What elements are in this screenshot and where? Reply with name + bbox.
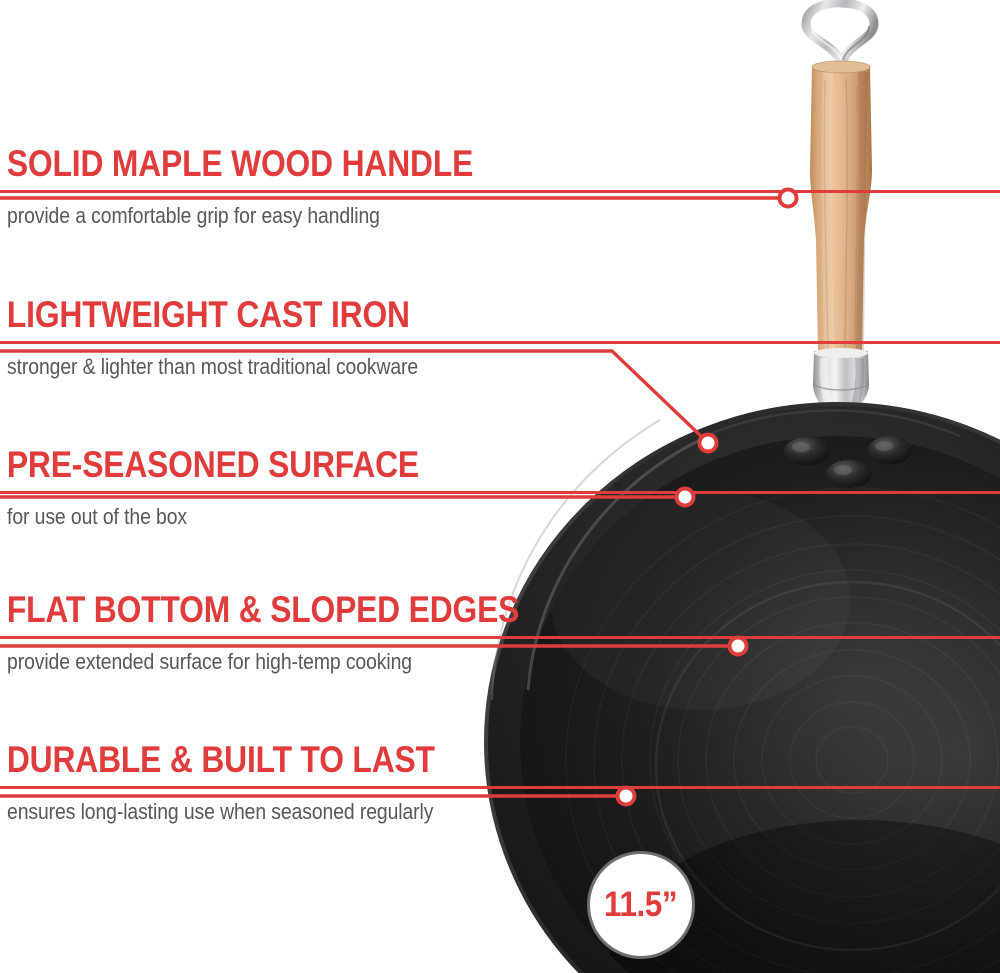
callout-dot-2 — [700, 435, 717, 452]
size-badge: 11.5” — [587, 851, 695, 959]
size-badge-label: 11.5” — [604, 885, 677, 925]
callout-leader-lines — [0, 0, 1000, 973]
callout-dot-4 — [730, 638, 747, 655]
callout-dot-1 — [780, 190, 797, 207]
product-feature-infographic: SOLID MAPLE WOOD HANDLE provide a comfor… — [0, 0, 1000, 973]
callout-dot-3 — [677, 489, 694, 506]
callout-dot-5 — [618, 788, 635, 805]
leader-line-2 — [0, 351, 703, 438]
